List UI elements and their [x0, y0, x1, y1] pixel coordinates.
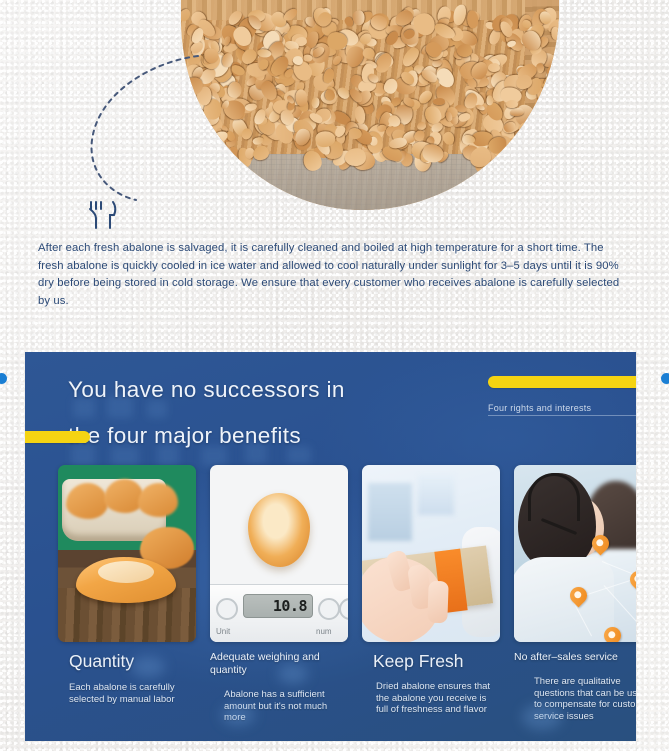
card-description: Each abalone is carefully selected by ma… [58, 682, 196, 705]
blurred-abalone [66, 483, 108, 519]
accent-bar-right [488, 376, 636, 388]
scale-unit-knob[interactable] [216, 598, 238, 620]
scale-num-knob[interactable] [318, 598, 340, 620]
panel-title-line1: You have no successors in [68, 377, 345, 402]
intro-paragraph: After each fresh abalone is salvaged, it… [38, 240, 632, 310]
panel-title: You have no successors in the four major… [68, 367, 488, 459]
benefits-panel: You have no successors in the four major… [25, 352, 636, 741]
card-description: There are qualitative questions that can… [514, 676, 636, 722]
benefit-cards-row: Quantity Each abalone is carefully selec… [58, 465, 636, 724]
card-description: Abalone has a sufficient amount but it's… [210, 689, 348, 724]
scale-unit-label: Unit [216, 627, 230, 636]
card-title: No after–sales service [514, 651, 636, 664]
sub-label: Four rights and interests [488, 403, 591, 413]
scale-num-label: num [316, 627, 332, 636]
card-photo-customer-service [514, 465, 636, 642]
benefit-card-after-sales[interactable]: No after–sales service There are qualita… [514, 465, 636, 724]
background-window [418, 475, 454, 515]
abalone-pieces [181, 0, 559, 210]
fork-knife-icon [86, 200, 120, 230]
card-description: Dried abalone ensures that the abalone y… [362, 681, 500, 716]
sub-label-rule [488, 415, 636, 416]
benefit-card-keep-fresh[interactable]: Keep Fresh Dried abalone ensures that th… [362, 465, 500, 724]
hero-photo-abalone-drying [181, 0, 559, 210]
benefit-card-quantity[interactable]: Quantity Each abalone is carefully selec… [58, 465, 196, 724]
benefit-card-adequate-weighing[interactable]: 10.8 Unit num Adequate weighing and quan… [210, 465, 348, 724]
dashed-curve-decoration [80, 48, 200, 208]
agent-body [514, 557, 614, 642]
card-photo-digital-scale: 10.8 Unit num [210, 465, 348, 642]
card-title: Adequate weighing and quantity [210, 651, 348, 677]
blurred-abalone [104, 479, 144, 513]
abalone-on-scale [248, 493, 310, 567]
card-photo-shipping-box [362, 465, 500, 642]
card-photo-abalone-board [58, 465, 196, 642]
blurred-abalone [138, 483, 178, 517]
finger [427, 581, 448, 624]
headset-icon [528, 473, 580, 521]
edge-dot-right [661, 373, 669, 384]
card-title: Quantity [58, 651, 196, 671]
background-window [368, 483, 412, 541]
card-title: Keep Fresh [362, 651, 500, 671]
accent-bar-left [25, 431, 90, 443]
scale-reading: 10.8 [273, 597, 312, 615]
panel-title-line2: the four major benefits [68, 413, 488, 459]
scale-lcd-display: 10.8 [243, 594, 313, 618]
